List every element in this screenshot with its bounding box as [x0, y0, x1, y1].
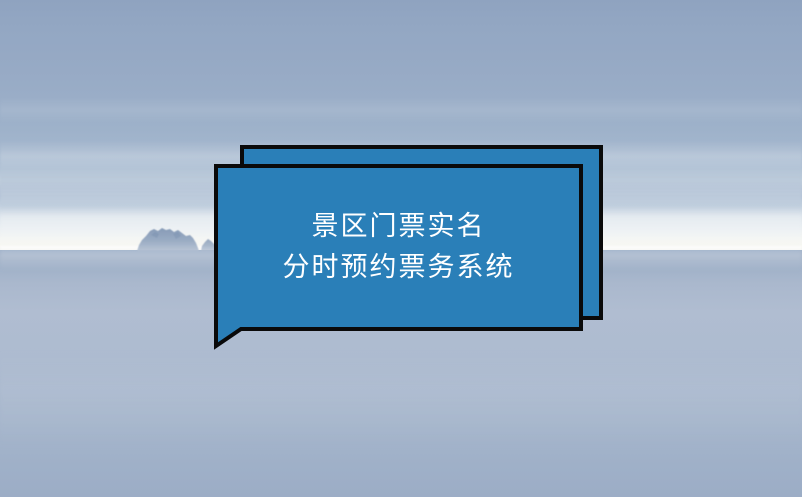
- screenshot-root: 景区门票实名 分时预约票务系统: [0, 0, 802, 497]
- speech-bubble-banner: [0, 0, 802, 497]
- banner-front-card: [216, 166, 581, 346]
